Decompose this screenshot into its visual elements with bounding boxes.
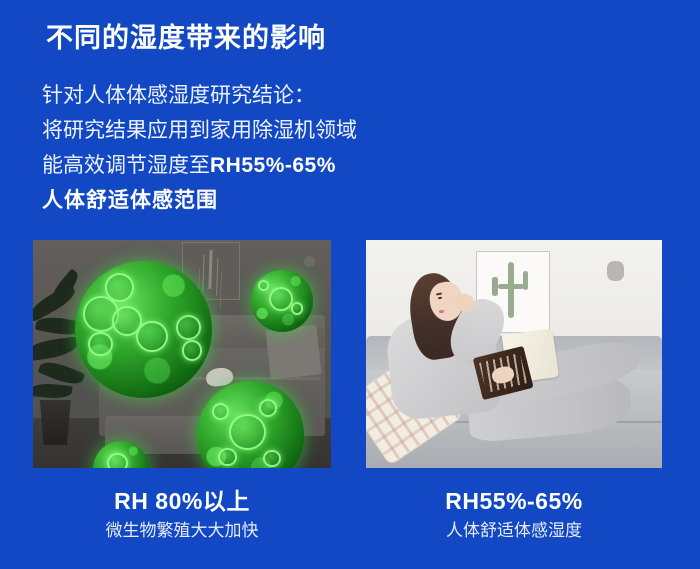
page-title: 不同的湿度带来的影响 <box>46 22 326 56</box>
intro-line-3-highlight: RH55%-65% <box>210 154 336 177</box>
microbe-bump <box>218 448 236 466</box>
microbe-icon <box>93 441 150 468</box>
caption-high-humidity: RH 80%以上 微生物繁殖大大加快 <box>33 486 331 544</box>
microbe-icon <box>197 381 304 468</box>
intro-line-3: 能高效调节湿度至RH55%-65% <box>42 148 357 183</box>
microbe-bump <box>229 414 265 450</box>
caption-subtitle: 微生物繁殖大大加快 <box>33 518 331 544</box>
microbe-bump <box>105 273 134 302</box>
microbe-icon <box>75 261 212 398</box>
intro-line-1: 针对人体体感湿度研究结论： <box>42 78 357 113</box>
intro-line-2: 将研究结果应用到家用除湿机领域 <box>42 113 357 148</box>
microbe-bump <box>291 302 304 315</box>
caption-subtitle: 人体舒适体感湿度 <box>366 518 662 544</box>
caption-title: RH 80%以上 <box>33 486 331 516</box>
caption-title: RH55%-65% <box>366 486 662 516</box>
intro-paragraph: 针对人体体感湿度研究结论： 将研究结果应用到家用除湿机领域 能高效调节湿度至RH… <box>42 78 357 218</box>
microbe-icon <box>251 270 314 333</box>
microbe-bump <box>176 315 201 340</box>
bright-room-photo <box>366 240 662 468</box>
dim-room-photo <box>33 240 331 468</box>
plant-leaf <box>33 381 72 399</box>
microbe-bump <box>259 399 277 417</box>
woman-reading <box>378 263 650 459</box>
sofa-cushion <box>266 324 322 379</box>
panel-high-humidity-image <box>33 240 331 468</box>
microbe-bump <box>136 321 168 353</box>
panel-comfort-humidity-image <box>366 240 662 468</box>
intro-line-4: 人体舒适体感范围 <box>42 183 357 218</box>
microbe-bump <box>212 403 229 420</box>
microbe-bump <box>182 340 203 361</box>
caption-comfort-humidity: RH55%-65% 人体舒适体感湿度 <box>366 486 662 544</box>
microbe-bump <box>107 453 127 468</box>
microbe-bump <box>269 287 293 311</box>
wall-knob-icon <box>304 256 315 267</box>
lips <box>439 310 444 313</box>
microbe-bump <box>263 450 280 467</box>
comparison-panels <box>0 240 700 468</box>
intro-line-3-prefix: 能高效调节湿度至 <box>42 154 210 177</box>
